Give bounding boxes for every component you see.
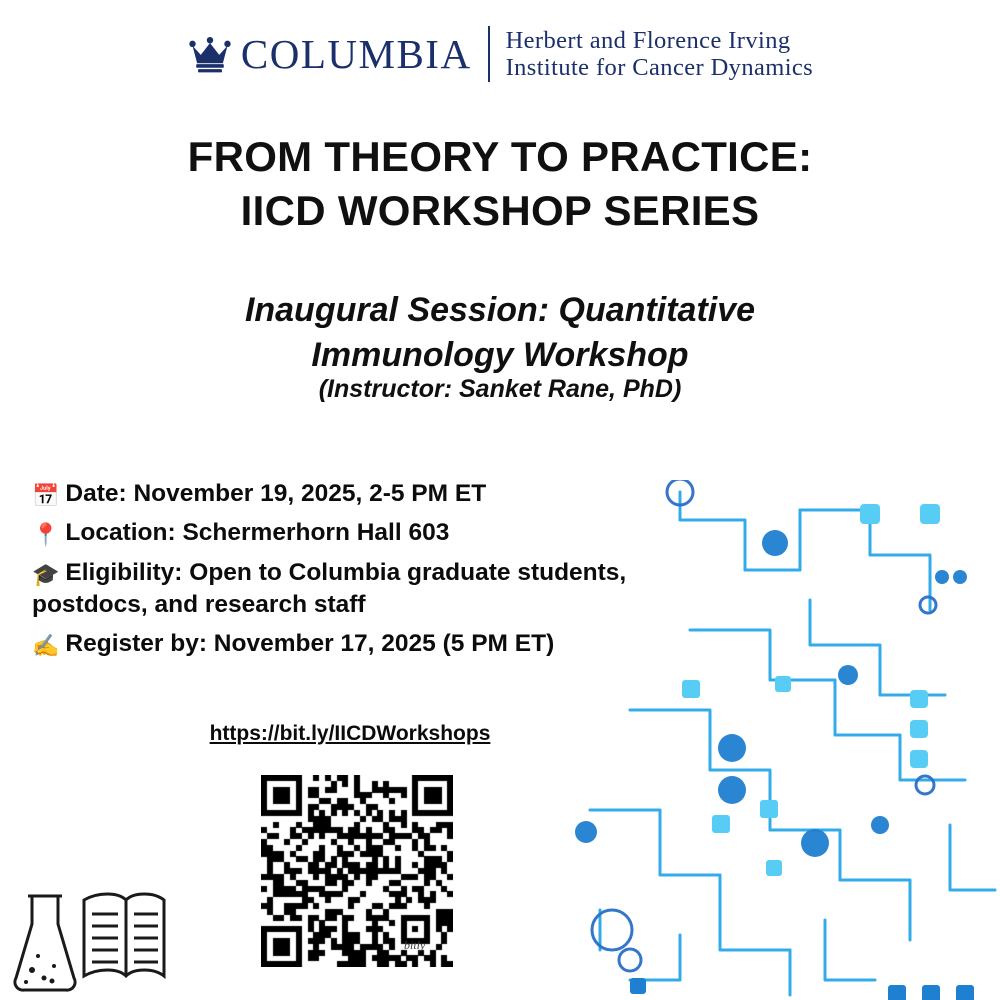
detail-value-location: Schermerhorn Hall 603 — [176, 519, 450, 546]
detail-row-register-by: ✍️Register by: November 17, 2025 (5 PM E… — [32, 628, 682, 660]
page-title: FROM THEORY TO PRACTICE: IICD WORKSHOP S… — [0, 130, 1000, 238]
calendar-icon: 📅 — [32, 481, 59, 510]
institute-line-1: Herbert and Florence Irving — [506, 27, 814, 54]
institute-name: Herbert and Florence Irving Institute fo… — [506, 27, 814, 82]
detail-label-location: Location: — [65, 519, 175, 546]
columbia-logo-lockup: COLUMBIA Herbert and Florence Irving Ins… — [0, 26, 1000, 82]
detail-value-register-by: November 17, 2025 (5 PM ET) — [207, 630, 554, 657]
detail-row-eligibility: 🎓Eligibility: Open to Columbia graduate … — [32, 557, 682, 622]
graduation-cap-icon: 🎓 — [32, 560, 59, 589]
instructor-line: (Instructor: Sanket Rane, PhD) — [0, 375, 1000, 404]
detail-label-date: Date: — [65, 480, 126, 507]
detail-row-date: 📅Date: November 19, 2025, 2-5 PM ET — [32, 478, 682, 510]
registration-link[interactable]: https://bit.ly/IICDWorkshops — [0, 722, 700, 746]
page-title-line-1: FROM THEORY TO PRACTICE: — [0, 130, 1000, 184]
qr-caption: bitly — [404, 938, 425, 953]
institute-line-2: Institute for Cancer Dynamics — [506, 54, 814, 81]
page-title-line-2: IICD WORKSHOP SERIES — [0, 184, 1000, 238]
session-title: Inaugural Session: Quantitative Immunolo… — [0, 288, 1000, 378]
writing-hand-icon: ✍️ — [32, 631, 59, 660]
columbia-crown-icon — [187, 31, 233, 77]
session-title-line-2: Immunology Workshop — [0, 333, 1000, 378]
detail-value-date: November 19, 2025, 2-5 PM ET — [127, 480, 487, 507]
detail-label-register-by: Register by: — [65, 630, 207, 657]
flask-and-book-art — [8, 878, 168, 998]
detail-row-location: 📍Location: Schermerhorn Hall 603 — [32, 517, 682, 549]
logo-divider — [488, 26, 490, 82]
session-title-line-1: Inaugural Session: Quantitative — [0, 288, 1000, 333]
location-pin-icon: 📍 — [32, 520, 59, 549]
event-details: 📅Date: November 19, 2025, 2-5 PM ET 📍Loc… — [32, 478, 682, 668]
columbia-wordmark: COLUMBIA — [241, 34, 488, 75]
detail-label-eligibility: Eligibility: — [65, 559, 182, 586]
